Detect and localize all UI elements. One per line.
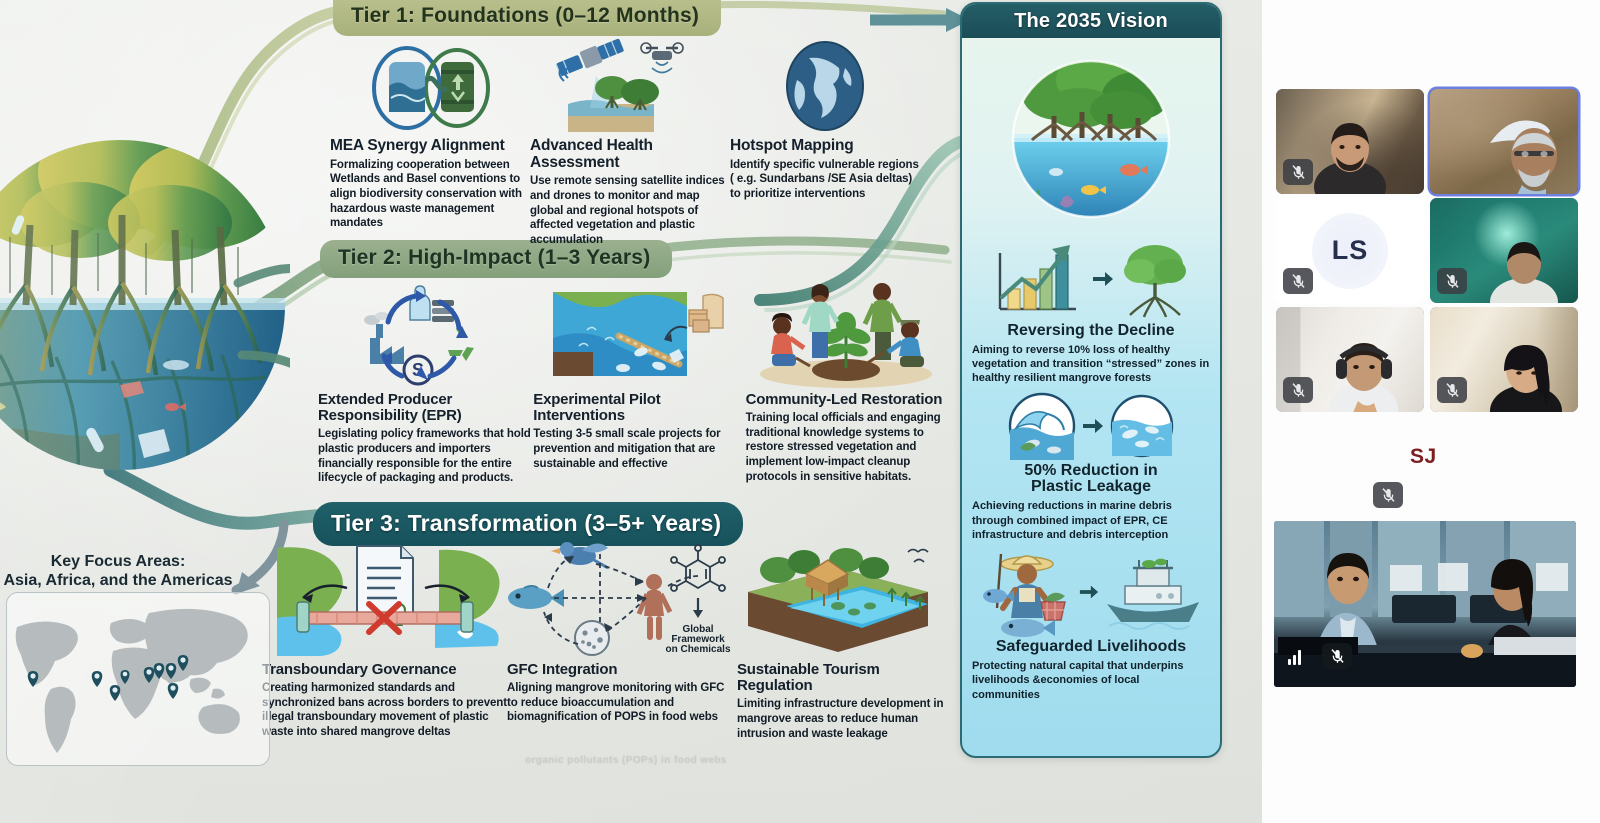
arrow-right-icon xyxy=(1092,268,1114,290)
tier-2-item-title: Community-Led Restoration xyxy=(746,392,948,408)
eco-lodge-icon xyxy=(737,540,952,658)
tier-3-item-title: Sustainable Tourism Regulation xyxy=(737,662,952,694)
participant-label-sj: SJ xyxy=(1410,445,1437,469)
cross-border-treaty-icon xyxy=(262,540,507,658)
vision-block-reversing-decline: Reversing the Decline Aiming to reverse … xyxy=(972,236,1210,386)
video-tile-conference-room[interactable] xyxy=(1274,521,1576,687)
water-recycling-barrel-icon xyxy=(330,38,530,134)
mic-off-icon xyxy=(1283,268,1313,294)
ghost-overflow-text: organic pollutants (POPs) in food webs xyxy=(525,755,727,766)
vision-block-plastic-leakage: 50% Reduction in Plastic Leakage Achievi… xyxy=(972,390,1210,542)
tier-1-item-body: Use remote sensing satellite indices and… xyxy=(530,174,730,247)
tier-1-banner-label: Tier 1: Foundations (0–12 Months) xyxy=(351,4,699,28)
arrow-right-icon xyxy=(1079,582,1099,602)
vision-panel-body: Reversing the Decline Aiming to reverse … xyxy=(962,38,1220,702)
tier-2-item-title: Extended Producer Responsibility (EPR) xyxy=(318,392,533,424)
key-focus-title-line1: Key Focus Areas: xyxy=(0,552,238,571)
tier-1-item-mea-synergy: MEA Synergy Alignment Formalizing cooper… xyxy=(330,38,530,247)
tier-3-items: Transboundary Governance Creating harmon… xyxy=(262,540,952,741)
river-boom-barrier-icon xyxy=(533,278,745,388)
video-tile-participant-6[interactable] xyxy=(1430,307,1578,412)
video-participant-panel: LS xyxy=(1262,0,1600,823)
polluted-wave-to-clean-water-icon xyxy=(972,390,1210,462)
tier-2-item-pilot-interventions: Experimental Pilot Interventions Testing… xyxy=(533,278,745,486)
key-focus-title: Key Focus Areas: Asia, Africa, and the A… xyxy=(0,552,238,590)
growth-chart-to-tree-icon xyxy=(972,236,1210,322)
vision-panel-header: The 2035 Vision xyxy=(962,4,1220,38)
tier-3-item-transboundary-governance: Transboundary Governance Creating harmon… xyxy=(262,540,507,741)
vision-panel: The 2035 Vision xyxy=(960,2,1222,758)
svg-text:on Chemicals: on Chemicals xyxy=(665,644,730,655)
vision-block-body: Achieving reductions in marine debris th… xyxy=(972,499,1210,542)
tier-1-item-title: Advanced Health Assessment xyxy=(530,138,730,171)
mic-off-icon xyxy=(1437,268,1467,294)
tier-3-item-title: GFC Integration xyxy=(507,662,737,678)
circular-economy-icon: S xyxy=(318,278,533,388)
tier-2-item-body: Legislating policy frameworks that hold … xyxy=(318,427,533,485)
vision-block-title-line1: 50% Reduction in xyxy=(972,463,1210,480)
tier-2-items: S xyxy=(318,278,948,486)
tier-1-item-hotspot-mapping: Hotspot Mapping Identify specific vulner… xyxy=(730,38,920,247)
tier-1-item-health-assessment: Advanced Health Assessment Use remote se… xyxy=(530,38,730,247)
community-planting-icon xyxy=(746,278,948,388)
tier-1-item-title: MEA Synergy Alignment xyxy=(330,138,530,155)
tier-1-item-title: Hotspot Mapping xyxy=(730,138,920,155)
vision-block-safeguarded-livelihoods: Safeguarded Livelihoods Protecting natur… xyxy=(972,546,1210,702)
avatar-initials: LS xyxy=(1332,235,1369,266)
vision-block-title: Reversing the Decline xyxy=(972,323,1210,340)
tier-2-item-epr: S xyxy=(318,278,533,486)
arrow-right-icon xyxy=(1082,415,1104,437)
tier-3-item-title: Transboundary Governance xyxy=(262,662,507,678)
tier-3-item-body: Creating harmonized standards and synchr… xyxy=(262,681,507,739)
tier-2-item-title: Experimental Pilot Interventions xyxy=(533,392,745,424)
tier-1-banner: Tier 1: Foundations (0–12 Months) xyxy=(333,0,721,36)
world-map-pins xyxy=(7,593,269,765)
tier-3-item-body: Aligning mangrove monitoring with GFC to… xyxy=(507,681,737,725)
tier-2-item-body: Testing 3-5 small scale projects for pre… xyxy=(533,427,745,471)
tier-3-item-tourism-regulation: Sustainable Tourism Regulation Limiting … xyxy=(737,540,952,741)
tier-3-banner-label: Tier 3: Transformation (3–5+ Years) xyxy=(331,510,721,537)
mic-off-icon xyxy=(1437,377,1467,403)
tier-2-item-community-restoration: Community-Led Restoration Training local… xyxy=(746,278,948,486)
food-web-chemicals-icon: Global Framework on Chemicals xyxy=(507,540,737,658)
tier-3-item-body: Limiting infrastructure development in m… xyxy=(737,697,952,741)
mic-off-icon xyxy=(1283,377,1313,403)
stressed-to-healthy-mangrove-illustration xyxy=(0,55,290,525)
signal-bars-icon xyxy=(1288,649,1301,665)
vision-block-body: Aiming to reverse 10% loss of healthy ve… xyxy=(972,343,1210,386)
key-focus-title-line2: Asia, Africa, and the Americas xyxy=(0,571,238,590)
video-tile-participant-1[interactable] xyxy=(1276,89,1424,194)
tier-1-item-body: Identify specific vulnerable regions ( e… xyxy=(730,158,920,202)
mic-off-icon xyxy=(1283,159,1313,185)
vision-panel-title: The 2035 Vision xyxy=(1014,10,1168,33)
mangrove-ocean-globe-icon xyxy=(972,46,1210,232)
satellite-drone-mangrove-icon xyxy=(530,38,730,134)
vision-block-title-line2: Plastic Leakage xyxy=(972,479,1210,496)
tier-1-item-body: Formalizing cooperation between Wetlands… xyxy=(330,158,530,231)
tier-1-items: MEA Synergy Alignment Formalizing cooper… xyxy=(330,38,940,247)
globe-icon xyxy=(730,38,920,134)
vision-block-body: Protecting natural capital that underpin… xyxy=(972,659,1210,702)
video-tile-participant-5[interactable] xyxy=(1276,307,1424,412)
tier-3-item-gfc-integration: Global Framework on Chemicals GFC Integr… xyxy=(507,540,737,741)
video-tile-participant-4[interactable] xyxy=(1430,198,1578,303)
world-map-box xyxy=(6,592,270,766)
vision-block-title: Safeguarded Livelihoods xyxy=(972,639,1210,656)
fisher-to-boat-icon xyxy=(972,546,1210,638)
tier-2-banner-label: Tier 2: High-Impact (1–3 Years) xyxy=(338,246,650,270)
video-tile-participant-2[interactable] xyxy=(1430,89,1578,194)
mic-off-icon xyxy=(1322,643,1352,669)
tier-2-item-body: Training local officials and engaging tr… xyxy=(746,411,948,484)
app-root: Tier 1: Foundations (0–12 Months) xyxy=(0,0,1600,823)
mic-off-icon xyxy=(1373,482,1403,508)
video-tile-participant-3[interactable]: LS xyxy=(1276,198,1424,303)
vision-block-title: 50% Reduction in Plastic Leakage xyxy=(972,463,1210,497)
shared-slide: Tier 1: Foundations (0–12 Months) xyxy=(0,0,1262,823)
